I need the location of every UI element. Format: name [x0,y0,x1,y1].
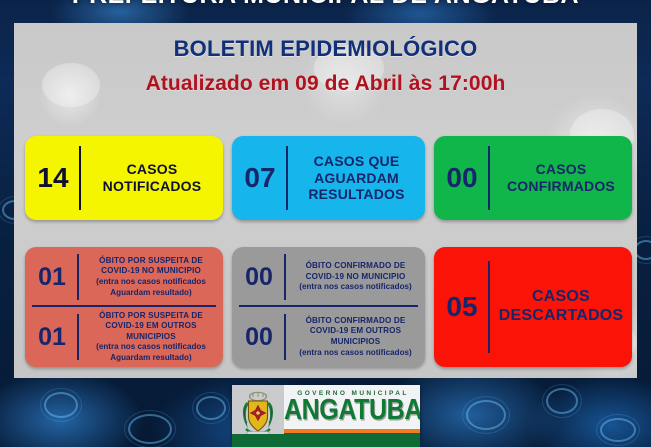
banner-strip: PREFEITURA MUNICIPAL DE ANGATUBA [0,0,651,23]
stat-label-line: (entra nos casos notificados) [299,348,411,357]
stat-label-line: COVID-19 NO MUNICIPIO [306,272,406,281]
stat-subrow-obito-confirmado-municipio[interactable]: 00 ÓBITO CONFIRMADO DE COVID-19 NO MUNIC… [232,247,425,307]
virus-ring-decor [196,396,226,420]
stat-card-casos-notificados[interactable]: 14 CASOS NOTIFICADOS [25,136,223,220]
stat-label: CASOS QUE AGUARDAM RESULTADOS [308,153,404,203]
stat-label-line: Aguardam resultado) [110,288,191,297]
stat-label-cell: ÓBITO POR SUSPEITA DE COVID-19 EM OUTROS… [79,307,223,367]
last-updated-text: Atualizado em 09 de Abril às 17:00h [14,72,637,96]
stat-label-line: MUNICIPIOS [126,332,176,341]
banner-title-clipped: PREFEITURA MUNICIPAL DE ANGATUBA [0,0,651,10]
stat-card-casos-descartados[interactable]: 05 CASOS DESCARTADOS [434,247,632,367]
stat-label: CASOS NOTIFICADOS [103,161,202,194]
stat-card-casos-confirmados[interactable]: 00 CASOS CONFIRMADOS [434,136,632,220]
stat-label-line: (entra nos casos notificados [96,342,206,351]
stat-count-cell: 05 [434,247,490,367]
stat-label-cell: CASOS CONFIRMADOS [490,136,632,220]
stat-label-line: ÓBITO POR SUSPEITA DE [99,256,203,265]
stat-count-cell: 00 [232,307,286,367]
stat-subrow-obito-suspeita-outros[interactable]: 01 ÓBITO POR SUSPEITA DE COVID-19 EM OUT… [25,307,223,367]
summary-row-primary: 14 CASOS NOTIFICADOS 07 CASOS QUE AGUARD [25,136,626,220]
coat-of-arms-icon [239,390,277,438]
stat-card-casos-aguardam-resultados[interactable]: 07 CASOS QUE AGUARDAM RESULTADOS [232,136,425,220]
stat-count: 07 [244,164,275,192]
virus-ring-decor [128,414,172,444]
stat-label-line: COVID-19 EM OUTROS [105,321,196,330]
page-title: BOLETIM EPIDEMIOLÓGICO [14,36,637,62]
heading-block: BOLETIM EPIDEMIOLÓGICO Atualizado em 09 … [14,23,637,96]
stat-label-line: ÓBITO CONFIRMADO DE [306,316,406,325]
stat-label-line: DESCARTADOS [499,307,624,324]
stat-count-cell: 07 [232,136,288,220]
stat-label: ÓBITO CONFIRMADO DE COVID-19 EM OUTROS M… [299,316,411,358]
stat-label-line: RESULTADOS [308,186,404,202]
logo-green-base [232,434,420,447]
stat-card-obito-suspeita[interactable]: 01 ÓBITO POR SUSPEITA DE COVID-19 NO MUN… [25,247,223,367]
stat-label-line: CONFIRMADOS [507,178,615,194]
stat-label-line: NOTIFICADOS [103,178,202,194]
stat-label-cell: CASOS DESCARTADOS [490,247,632,367]
stat-label-cell: CASOS QUE AGUARDAM RESULTADOS [288,136,425,220]
stat-label-line: CASOS QUE [314,153,400,169]
virus-ring-decor [546,388,578,414]
stat-label-line: MUNICIPIOS [331,337,381,346]
stat-count-cell: 01 [25,247,79,307]
stat-label-cell: ÓBITO CONFIRMADO DE COVID-19 NO MUNICIPI… [286,247,425,307]
summary-row-secondary: 01 ÓBITO POR SUSPEITA DE COVID-19 NO MUN… [25,247,626,367]
stat-subrow-obito-confirmado-outros[interactable]: 00 ÓBITO CONFIRMADO DE COVID-19 EM OUTRO… [232,307,425,367]
stat-label: ÓBITO POR SUSPEITA DE COVID-19 EM OUTROS… [96,311,206,364]
stat-label: CASOS DESCARTADOS [499,288,624,326]
virus-ring-decor [44,392,78,418]
stat-subrow-obito-suspeita-municipio[interactable]: 01 ÓBITO POR SUSPEITA DE COVID-19 NO MUN… [25,247,223,307]
stat-label-line: ÓBITO CONFIRMADO DE [306,261,406,270]
stat-label-line: CASOS [532,288,590,305]
stat-count-cell: 00 [434,136,490,220]
stat-label-cell: CASOS NOTIFICADOS [81,136,223,220]
stat-label-cell: ÓBITO POR SUSPEITA DE COVID-19 NO MUNICI… [79,247,223,307]
stat-label-cell: ÓBITO CONFIRMADO DE COVID-19 EM OUTROS M… [286,307,425,367]
stat-label-line: CASOS [536,161,587,177]
stat-count-cell: 01 [25,307,79,367]
stat-count: 01 [38,265,66,290]
content-panel: BOLETIM EPIDEMIOLÓGICO Atualizado em 09 … [14,23,637,378]
stat-count: 00 [446,164,477,192]
stat-count: 01 [38,325,66,350]
stat-count-cell: 00 [232,247,286,307]
stat-label-line: COVID-19 EM OUTROS [310,326,401,335]
stat-label-line: Aguardam resultado) [110,353,191,362]
stat-label-line: (entra nos casos notificados) [299,282,411,291]
stat-label-line: COVID-19 NO MUNICIPIO [101,266,201,275]
stat-label-line: ÓBITO POR SUSPEITA DE [99,311,203,320]
stat-label-line: CASOS [127,161,178,177]
stat-count: 00 [245,265,273,290]
stat-label: CASOS CONFIRMADOS [507,161,615,194]
stat-label-line: AGUARDAM [314,170,399,186]
stat-count: 00 [245,325,273,350]
stat-label-line: (entra nos casos notificados [96,277,206,286]
stat-count: 14 [37,164,68,192]
virus-ring-decor [466,400,506,430]
logo-city-name: ANGATUBA [284,396,420,425]
stat-label: ÓBITO POR SUSPEITA DE COVID-19 NO MUNICI… [96,256,206,298]
stat-count: 05 [446,293,477,321]
stat-card-obito-confirmado[interactable]: 00 ÓBITO CONFIRMADO DE COVID-19 NO MUNIC… [232,247,425,367]
stat-count-cell: 14 [25,136,81,220]
stat-label: ÓBITO CONFIRMADO DE COVID-19 NO MUNICIPI… [299,261,411,293]
poster-background: PREFEITURA MUNICIPAL DE ANGATUBA BOLETIM… [0,0,651,447]
virus-ring-decor [600,418,636,442]
